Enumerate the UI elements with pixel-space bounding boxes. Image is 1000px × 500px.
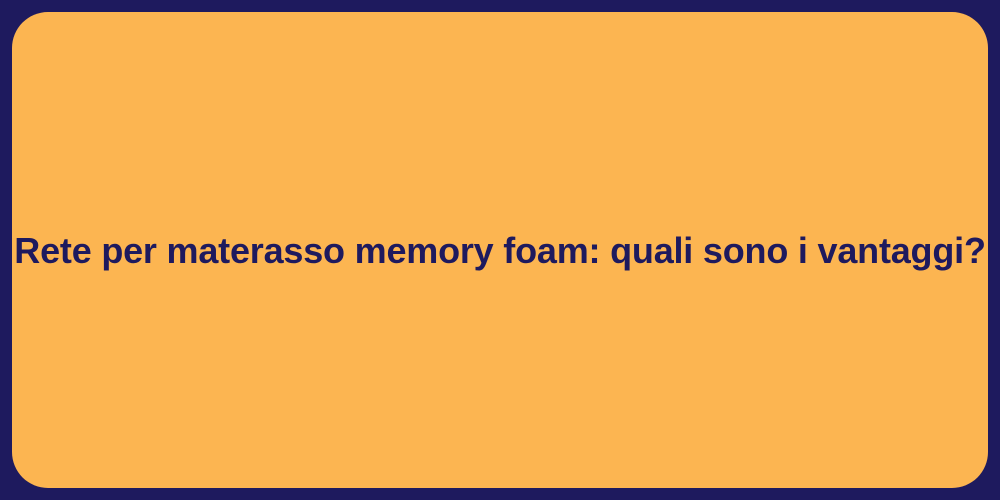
banner-headline: Rete per materasso memory foam: quali so… [14,228,985,273]
banner-card: Rete per materasso memory foam: quali so… [12,12,988,488]
banner-frame: Rete per materasso memory foam: quali so… [0,0,1000,500]
